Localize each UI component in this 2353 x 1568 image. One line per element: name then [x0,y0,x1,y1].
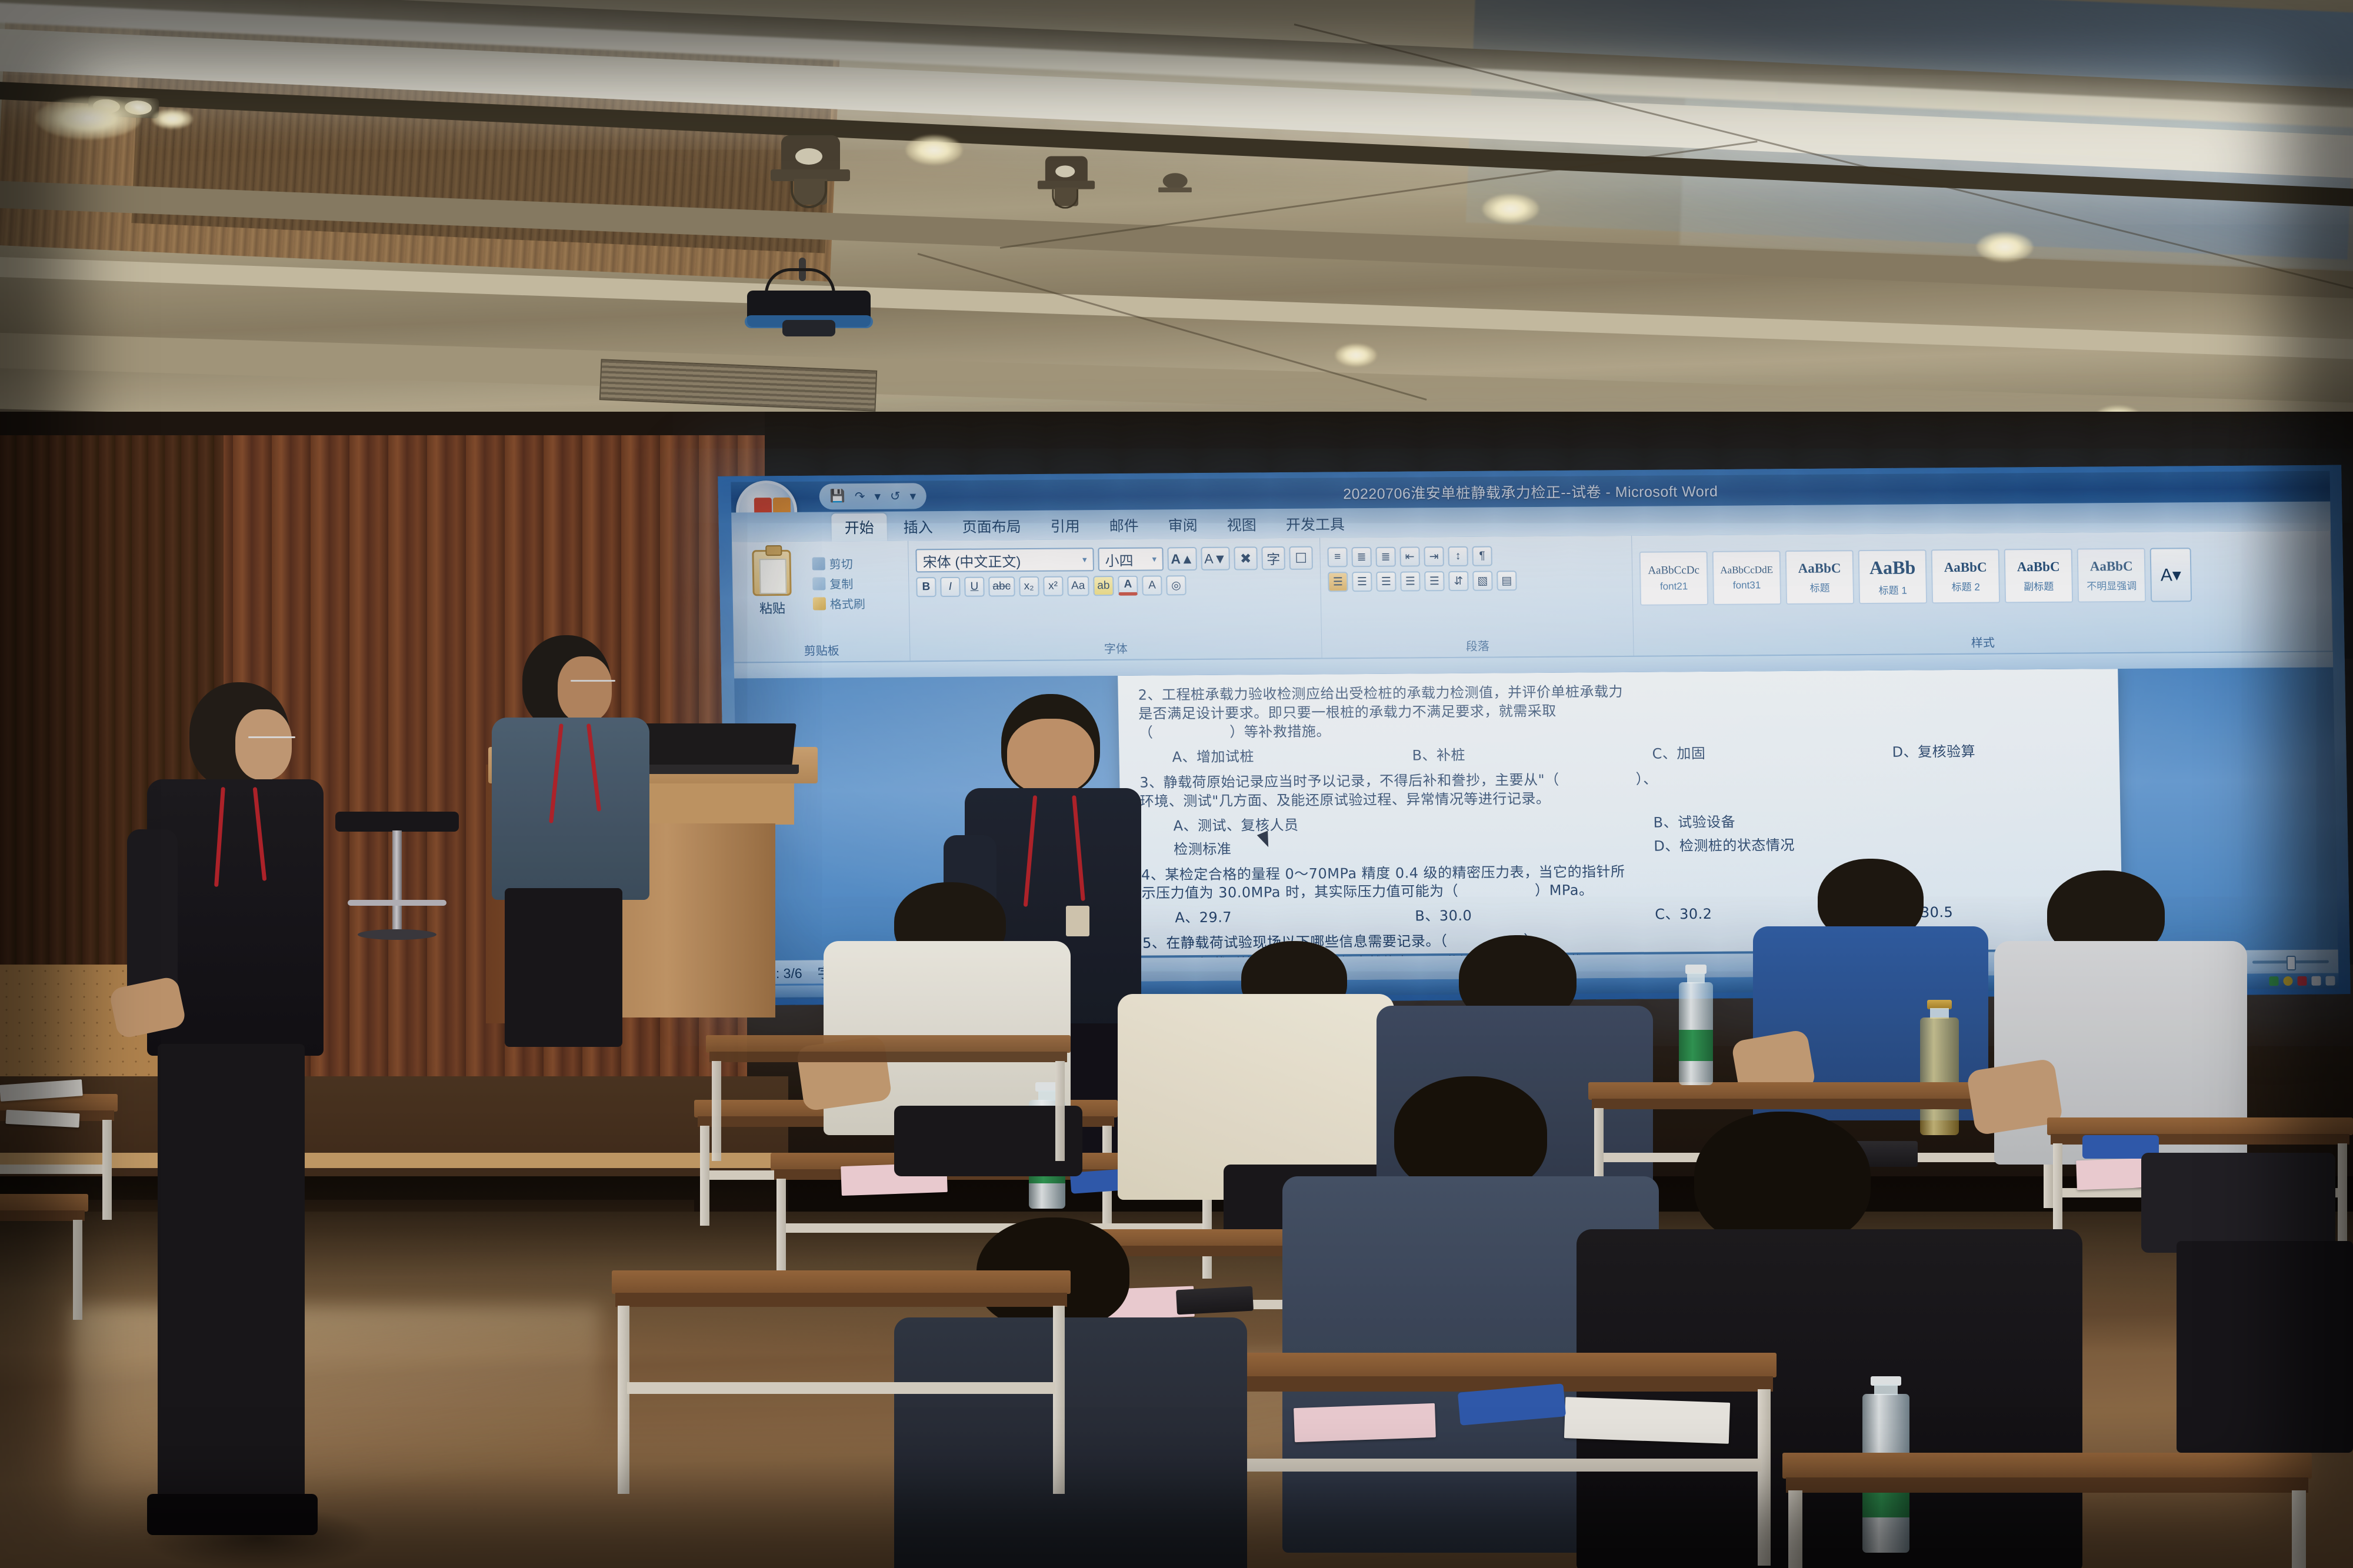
redo-icon[interactable]: ↺ [890,489,901,503]
font-color-button[interactable]: A [1118,576,1138,596]
styles-group-label: 样式 [1634,631,2332,653]
style-item[interactable]: AaBbC 副标题 [2004,549,2074,603]
option: C、加固 [1619,740,1859,763]
font-name-combo[interactable]: 宋体 (中文正文) ▾ [915,548,1094,572]
tab-references[interactable]: 引用 [1037,512,1093,540]
question-3: 3、静载荷原始记录应当时予以记录，不得后补和誊抄，主要从"（ ）、 环境、测试"… [1139,767,2101,858]
tab-page-layout[interactable]: 页面布局 [949,512,1034,541]
option: D、检测桩的状态情况 [1621,831,2101,855]
scissors-icon [812,557,825,570]
style-item[interactable]: AaBbCcDdE font31 [1712,551,1782,605]
tray-icon-network[interactable] [2311,976,2321,986]
group-clipboard: 粘贴 剪切 复制 [732,541,911,662]
multilevel-list-icon[interactable]: ≣ [1375,547,1396,567]
show-marks-icon[interactable]: ¶ [1472,546,1492,566]
tab-home[interactable]: 开始 [831,513,887,542]
cut-label: 剪切 [829,555,853,572]
clear-formatting-icon[interactable]: ✖ [1234,546,1258,570]
clipboard-group-label: 剪贴板 [734,640,910,659]
paste-icon[interactable] [752,550,791,596]
downlight [1335,344,1377,366]
window-title: 20220706淮安单桩静载承力检正--试卷 - Microsoft Word [1343,480,1718,503]
shading-icon[interactable]: ▧ [1472,571,1493,591]
tray-icon-update[interactable] [2297,976,2307,986]
option: B、补桩 [1379,742,1619,765]
paintbrush-icon [813,597,826,610]
undo-icon[interactable]: ↷ [855,489,865,503]
copy-icon [812,577,825,590]
change-styles-icon[interactable]: A▾ [2150,548,2192,602]
tray-icon-shield[interactable] [2269,976,2278,986]
option: A、增加试桩 [1139,744,1379,766]
subscript-button[interactable]: x₂ [1019,576,1039,596]
font-size-combo[interactable]: 小四 ▾ [1098,547,1164,571]
option: D、复核验算 [1859,739,2099,761]
exam-desk-foreground [1782,1453,2312,1568]
strikethrough-button[interactable]: abc [988,576,1015,596]
projector-icon [747,276,871,347]
line-spacing-icon[interactable]: ⇵ [1448,571,1469,591]
align-right-icon[interactable]: ☰ [1376,572,1397,592]
font-group-label: 字体 [910,638,1322,658]
tab-insert[interactable]: 插入 [890,513,946,541]
exam-paper [1564,1397,1730,1444]
chevron-down-icon[interactable]: ▾ [1152,553,1156,564]
chevron-down-icon[interactable]: ▾ [1082,554,1087,565]
option: A、测试、复核人员 [1140,811,1621,835]
question-options: 检测标准 D、检测桩的状态情况 [1141,831,2101,858]
font-name-value: 宋体 (中文正文) [922,550,1021,571]
font-size-value: 小四 [1105,549,1134,569]
downlight [1482,194,1539,223]
italic-button[interactable]: I [940,577,961,597]
text-effects-icon[interactable]: A [1142,575,1162,595]
option: B、30.0 [1382,903,1622,925]
increase-indent-icon[interactable]: ⇥ [1424,546,1444,566]
group-paragraph: ≡ ≣ ≣ ⇤ ⇥ ↕ ¶ ☰ ☰ ☰ ☰ ☰ ⇵ [1320,536,1634,658]
laptop [641,723,794,776]
style-item[interactable]: AaBb 标题 1 [1858,549,1928,604]
numbering-icon[interactable]: ≣ [1351,547,1372,567]
distribute-icon[interactable]: ☰ [1424,571,1445,591]
zoom-slider[interactable] [2252,960,2329,963]
customize-icon[interactable]: ▾ [909,489,916,503]
underline-button[interactable]: U [964,577,985,597]
justify-icon[interactable]: ☰ [1400,571,1421,591]
ptz-camera-icon [771,135,850,209]
tray-icon-volume[interactable] [2325,976,2335,985]
sort-icon[interactable]: ↕ [1448,546,1468,566]
option: 检测标准 [1141,835,1621,859]
shrink-font-button[interactable]: A▼ [1201,547,1230,571]
tray-icon-antivirus[interactable] [2283,976,2292,986]
shoes [147,1494,318,1535]
bar-stool [335,812,459,953]
cut-button[interactable]: 剪切 [812,555,865,572]
paragraph-group-label: 段落 [1322,636,1634,655]
styles-gallery[interactable]: AaBbCcDc font21 AaBbCcDdE font31 AaBbC 标… [1639,542,2324,611]
ceiling-speaker-icon [1158,173,1192,204]
question-options: A、测试、复核人员 B、试验设备 [1140,808,2101,835]
enclose-character-icon[interactable]: ◎ [1166,575,1187,595]
style-item[interactable]: AaBbC 标题 [1785,550,1855,605]
format-painter-label: 格式刷 [830,595,866,612]
exam-desk-foreground [612,1270,1071,1506]
character-border-icon[interactable]: ☐ [1289,546,1313,570]
ribbon[interactable]: 粘贴 剪切 复制 [732,531,2333,663]
chair-body [2177,1241,2353,1453]
person-speaker-at-podium [488,635,659,1047]
downlight [152,109,193,129]
grow-font-button[interactable]: A▲ [1168,547,1198,571]
question-options: A、增加试桩 B、补桩 C、加固 D、复核验算 [1139,739,2099,766]
decrease-indent-icon[interactable]: ⇤ [1399,546,1420,566]
option: B、试验设备 [1620,808,2101,832]
superscript-button[interactable]: x² [1043,576,1064,596]
chair-back [2141,1153,2335,1253]
downlight-glow [35,97,141,139]
paste-button[interactable]: 粘贴 [740,598,805,618]
text-highlight-button[interactable]: ab [1093,576,1114,596]
save-icon[interactable]: 💾 [830,489,846,503]
align-center-icon[interactable]: ☰ [1352,572,1372,592]
person-proctor-standing-left [147,682,335,1535]
exam-hall-photo: 20220706淮安单桩静载承力检正--试卷 - Microsoft Word … [0,0,2353,1568]
bold-button[interactable]: B [916,577,936,597]
change-case-button[interactable]: Aa [1067,576,1089,596]
copy-label: 复制 [829,575,854,592]
option: A、29.7 [1142,905,1382,927]
style-item[interactable]: AaBbC 标题 2 [1931,549,2001,603]
format-painter-button[interactable]: 格式刷 [813,595,866,612]
tab-developer[interactable]: 开发工具 [1272,510,1358,538]
group-font: 宋体 (中文正文) ▾ 小四 ▾ A▲ A▼ ✖ 字 ☐ [908,538,1322,661]
side-table-lower [0,1194,88,1323]
phonetic-guide-icon[interactable]: 字 [1261,546,1285,570]
bullets-icon[interactable]: ≡ [1327,547,1348,567]
align-left-icon[interactable]: ☰ [1328,572,1348,592]
chevron-down-icon[interactable]: ▾ [874,489,881,503]
ceiling [0,0,2353,447]
answer-sheet [1294,1403,1436,1442]
tab-mailings[interactable]: 邮件 [1096,512,1152,540]
downlight [906,135,962,165]
tab-view[interactable]: 视图 [1214,511,1269,539]
exam-desk [706,1035,1071,1188]
ptz-camera-icon-2 [1038,156,1095,209]
style-item[interactable]: AaBbC 不明显强调 [2077,548,2147,603]
tab-review[interactable]: 审阅 [1155,511,1211,539]
borders-icon[interactable]: ▤ [1497,571,1517,590]
group-styles: AaBbCcDc font21 AaBbCcDdE font31 AaBbC 标… [1632,531,2333,656]
exam-desk-foreground [1224,1353,1777,1568]
quick-access-toolbar[interactable]: 💾 ↷ ▾ ↺ ▾ [819,483,926,509]
question-2: 2、工程桩承载力验收检测应给出受检桩的承载力检测值，并评价单桩承载力 是否满足设… [1138,679,2099,766]
water-bottle [1677,965,1715,1085]
copy-button[interactable]: 复制 [812,575,865,592]
style-item[interactable]: AaBbCcDc font21 [1639,551,1709,606]
downlight [1977,232,2033,262]
